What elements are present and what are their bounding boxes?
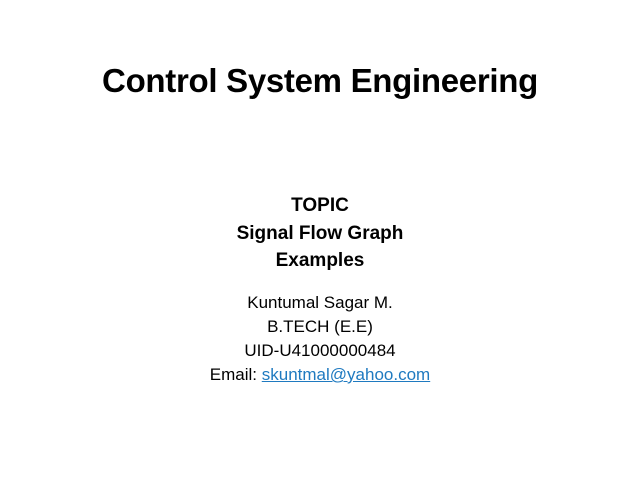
page-title: Control System Engineering [0,62,640,100]
topic-block: TOPIC Signal Flow Graph Examples [0,192,640,275]
email-label: Email: [210,365,257,384]
slide-body: TOPIC Signal Flow Graph Examples Kuntuma… [0,192,640,387]
author-email-line: Email: skuntmal@yahoo.com [0,363,640,387]
topic-line-1: Signal Flow Graph [0,220,640,248]
email-link[interactable]: skuntmal@yahoo.com [262,365,430,384]
topic-heading: TOPIC [0,192,640,220]
author-name: Kuntumal Sagar M. [0,291,640,315]
author-degree: B.TECH (E.E) [0,315,640,339]
slide: Control System Engineering TOPIC Signal … [0,0,640,480]
author-uid: UID-U41000000484 [0,339,640,363]
author-block: Kuntumal Sagar M. B.TECH (E.E) UID-U4100… [0,291,640,388]
topic-line-2: Examples [0,247,640,275]
